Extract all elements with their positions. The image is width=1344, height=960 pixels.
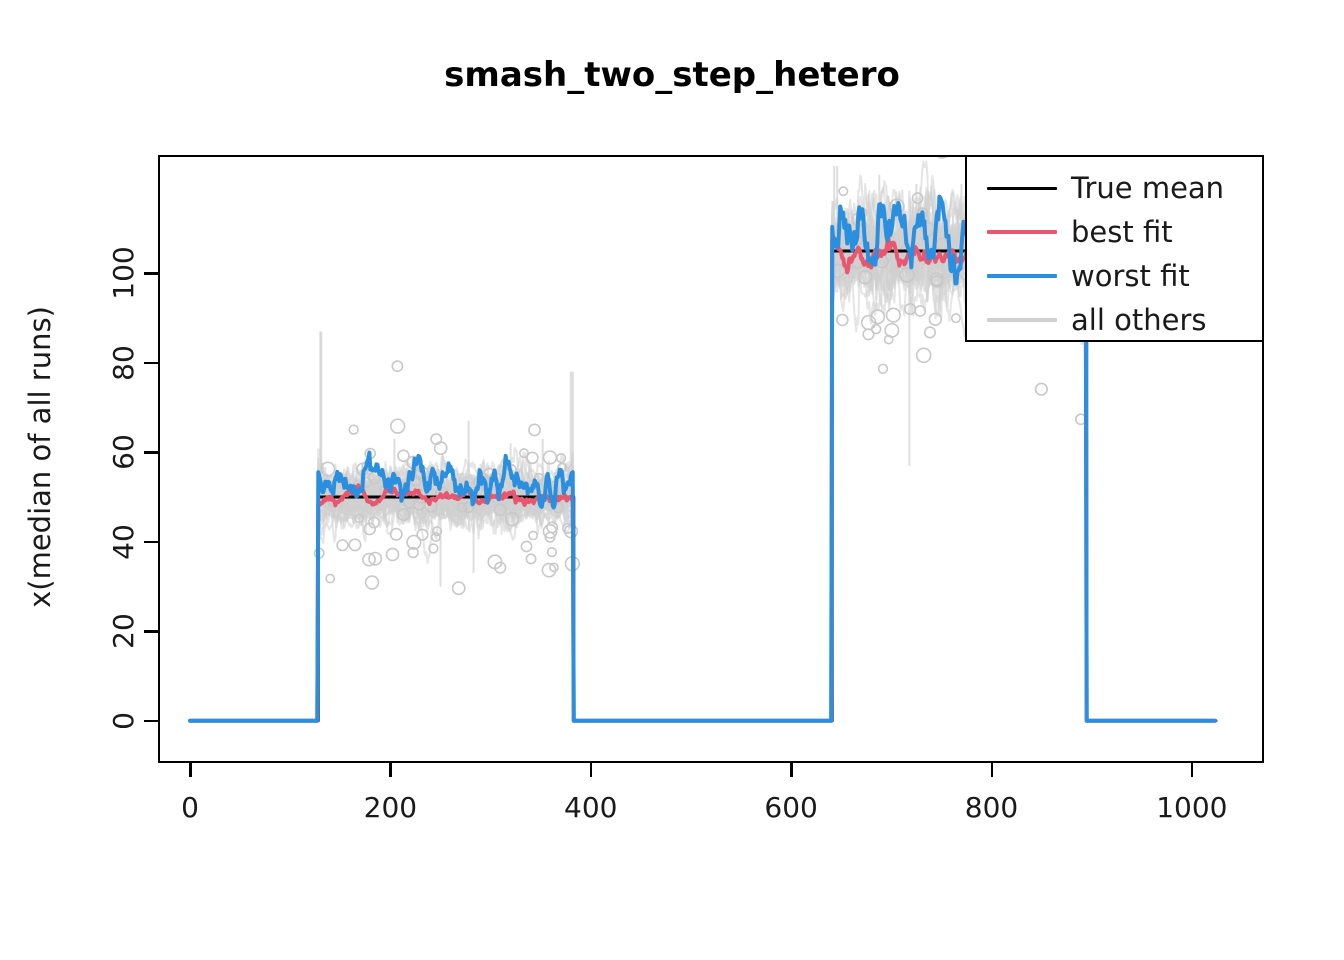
y-axis-tickmark bbox=[144, 272, 158, 275]
outlier-marker bbox=[1036, 383, 1048, 395]
y-axis-tickmark bbox=[144, 630, 158, 633]
outlier-marker bbox=[387, 548, 399, 560]
outlier-marker bbox=[521, 541, 531, 551]
outlier-marker bbox=[391, 419, 405, 433]
outlier-marker bbox=[453, 582, 465, 594]
legend-swatch-icon bbox=[987, 274, 1057, 278]
x-axis-tick-label: 1000 bbox=[1112, 791, 1272, 824]
outlier-marker bbox=[936, 157, 949, 158]
outlier-marker bbox=[529, 424, 540, 435]
outlier-marker bbox=[526, 554, 535, 563]
legend-swatch-icon bbox=[987, 230, 1057, 234]
legend: True meanbest fitworst fitall others bbox=[965, 155, 1264, 342]
y-axis-tick-label: 100 bbox=[106, 213, 142, 333]
x-axis-tickmark bbox=[991, 763, 994, 777]
legend-item-label: True mean bbox=[1071, 174, 1224, 203]
x-axis-tickmark bbox=[389, 763, 392, 777]
legend-item[interactable]: best fit bbox=[967, 213, 1262, 251]
outlier-marker bbox=[917, 348, 931, 362]
page-title: smash_two_step_hetero bbox=[0, 55, 1344, 95]
legend-swatch-icon bbox=[987, 318, 1057, 322]
x-axis-tick-label: 200 bbox=[310, 791, 470, 824]
outlier-marker bbox=[925, 327, 936, 338]
x-axis-tickmark bbox=[590, 763, 593, 777]
outlier-marker bbox=[349, 425, 358, 434]
outlier-marker bbox=[887, 308, 901, 322]
outlier-marker bbox=[550, 563, 558, 571]
x-axis-tickmark bbox=[189, 763, 192, 777]
outlier-marker bbox=[839, 187, 847, 195]
x-axis-tick-label: 600 bbox=[711, 791, 871, 824]
outlier-marker bbox=[366, 576, 379, 589]
legend-item[interactable]: worst fit bbox=[967, 257, 1262, 295]
legend-item[interactable]: all others bbox=[967, 301, 1262, 339]
outlier-marker bbox=[326, 574, 334, 582]
x-axis-tick-label: 0 bbox=[110, 791, 270, 824]
legend-item-label: all others bbox=[1071, 306, 1206, 335]
x-axis-tickmark bbox=[790, 763, 793, 777]
y-axis-label: x(median of all runs) bbox=[23, 177, 57, 737]
outlier-marker bbox=[529, 531, 537, 539]
outlier-marker bbox=[879, 364, 888, 373]
y-axis-tickmark bbox=[144, 451, 158, 454]
legend-item-label: best fit bbox=[1071, 218, 1173, 247]
x-axis-tick-label: 400 bbox=[511, 791, 671, 824]
outlier-marker bbox=[431, 434, 441, 444]
outlier-marker bbox=[337, 540, 348, 551]
outlier-marker bbox=[837, 314, 848, 325]
y-axis-tickmark bbox=[144, 720, 158, 723]
outlier-marker bbox=[542, 564, 555, 577]
legend-swatch-icon bbox=[987, 187, 1057, 190]
outlier-marker bbox=[349, 539, 360, 550]
outlier-marker bbox=[952, 314, 960, 322]
outlier-marker bbox=[392, 361, 402, 371]
outlier-marker bbox=[391, 529, 402, 540]
legend-item[interactable]: True mean bbox=[967, 169, 1262, 207]
legend-item-label: worst fit bbox=[1071, 262, 1190, 291]
y-axis-tickmark bbox=[144, 362, 158, 365]
outlier-marker bbox=[863, 329, 874, 340]
x-axis-tick-label: 800 bbox=[912, 791, 1072, 824]
x-axis-tickmark bbox=[1191, 763, 1194, 777]
chart-figure: smash_two_step_hetero x(median of all ru… bbox=[0, 0, 1344, 960]
y-axis-tickmark bbox=[144, 541, 158, 544]
outlier-marker bbox=[548, 548, 557, 557]
outlier-marker bbox=[544, 451, 557, 464]
